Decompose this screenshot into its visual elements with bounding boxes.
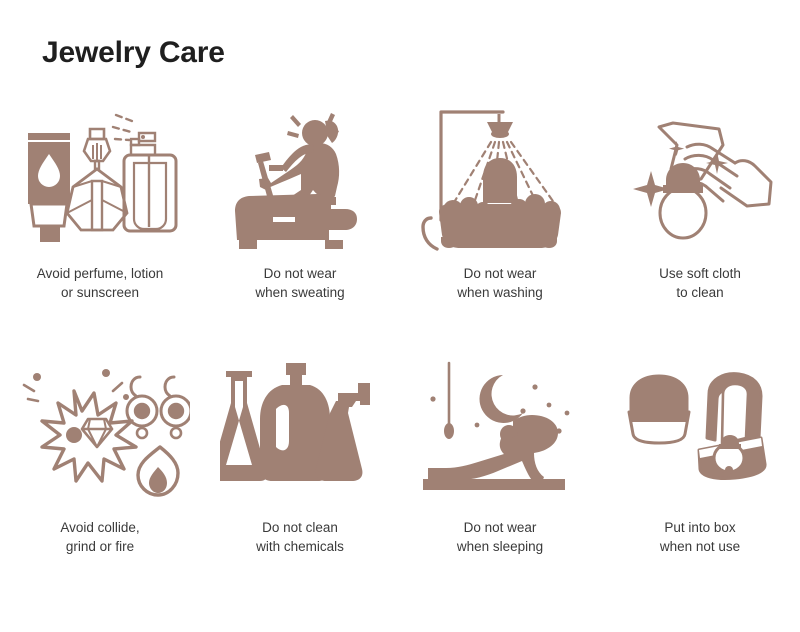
care-row-2: Avoid collide, grind or fire [0,350,800,604]
care-item-caption: Do not clean with chemicals [256,518,344,556]
care-icon-grid: Avoid perfume, lotion or sunscreen [0,96,800,604]
care-item-caption: Put into box when not use [660,518,740,556]
chemical-bottles-icon [210,350,390,510]
page-title: Jewelry Care [42,36,225,69]
care-item-caption: Use soft cloth to clean [659,264,741,302]
impact-burst-gem-earrings-flame-icon [10,350,190,510]
care-item-no-sleeping: Do not wear when sleeping [400,350,600,604]
hand-soft-cloth-ring-icon [610,96,790,256]
care-item-avoid-perfume: Avoid perfume, lotion or sunscreen [0,96,200,350]
care-item-no-washing: Do not wear when washing [400,96,600,350]
care-row-1: Avoid perfume, lotion or sunscreen [0,96,800,350]
bathtub-shower-washing-icon [410,96,590,256]
care-item-caption: Do not wear when washing [457,264,543,302]
perfume-lotion-sunscreen-icon [10,96,190,256]
care-item-caption: Avoid perfume, lotion or sunscreen [37,264,164,302]
care-item-caption: Do not wear when sweating [255,264,344,302]
care-item-caption: Avoid collide, grind or fire [60,518,139,556]
care-item-put-into-box: Put into box when not use [600,350,800,604]
care-item-caption: Do not wear when sleeping [457,518,543,556]
person-sleeping-moon-icon [410,350,590,510]
jewelry-box-ring-icon [610,350,790,510]
care-item-avoid-collide: Avoid collide, grind or fire [0,350,200,604]
care-item-soft-cloth: Use soft cloth to clean [600,96,800,350]
jewelry-care-infographic: Jewelry Care [0,0,800,632]
care-item-no-sweating: Do not wear when sweating [200,96,400,350]
care-item-no-chemicals: Do not clean with chemicals [200,350,400,604]
exercise-bike-sweating-icon [210,96,390,256]
